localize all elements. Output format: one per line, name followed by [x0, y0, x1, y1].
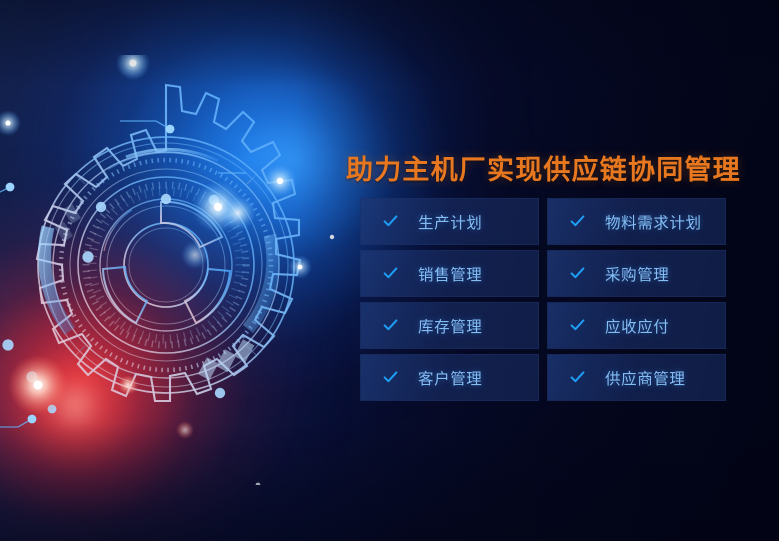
feature-cell-material-requirement-plan[interactable]: 物料需求计划	[547, 198, 726, 245]
feature-cell-supplier-management[interactable]: 供应商管理	[547, 354, 726, 401]
feature-label: 物料需求计划	[605, 211, 702, 233]
feature-label: 销售管理	[418, 263, 482, 285]
feature-label: 应收应付	[605, 315, 669, 337]
feature-label: 客户管理	[418, 367, 482, 389]
feature-label: 生产计划	[418, 211, 482, 233]
check-icon	[383, 266, 398, 281]
feature-cell-production-plan[interactable]: 生产计划	[360, 198, 539, 245]
check-icon	[570, 214, 585, 229]
feature-cell-customer-management[interactable]: 客户管理	[360, 354, 539, 401]
feature-grid: 生产计划 物料需求计划 销售管理 采购管	[360, 198, 726, 401]
check-icon	[383, 318, 398, 333]
check-icon	[383, 214, 398, 229]
feature-label: 库存管理	[418, 315, 482, 337]
banner-title: 助力主机厂实现供应链协同管理	[346, 148, 741, 187]
check-icon	[570, 318, 585, 333]
feature-cell-receivable-payable[interactable]: 应收应付	[547, 302, 726, 349]
feature-label: 供应商管理	[605, 367, 686, 389]
feature-cell-sales-management[interactable]: 销售管理	[360, 250, 539, 297]
check-icon	[570, 266, 585, 281]
promo-banner: 助力主机厂实现供应链协同管理 生产计划 物料需求计划	[0, 0, 779, 541]
check-icon	[383, 370, 398, 385]
check-icon	[570, 370, 585, 385]
feature-cell-inventory-management[interactable]: 库存管理	[360, 302, 539, 349]
feature-label: 采购管理	[605, 263, 669, 285]
feature-cell-procurement-management[interactable]: 采购管理	[547, 250, 726, 297]
